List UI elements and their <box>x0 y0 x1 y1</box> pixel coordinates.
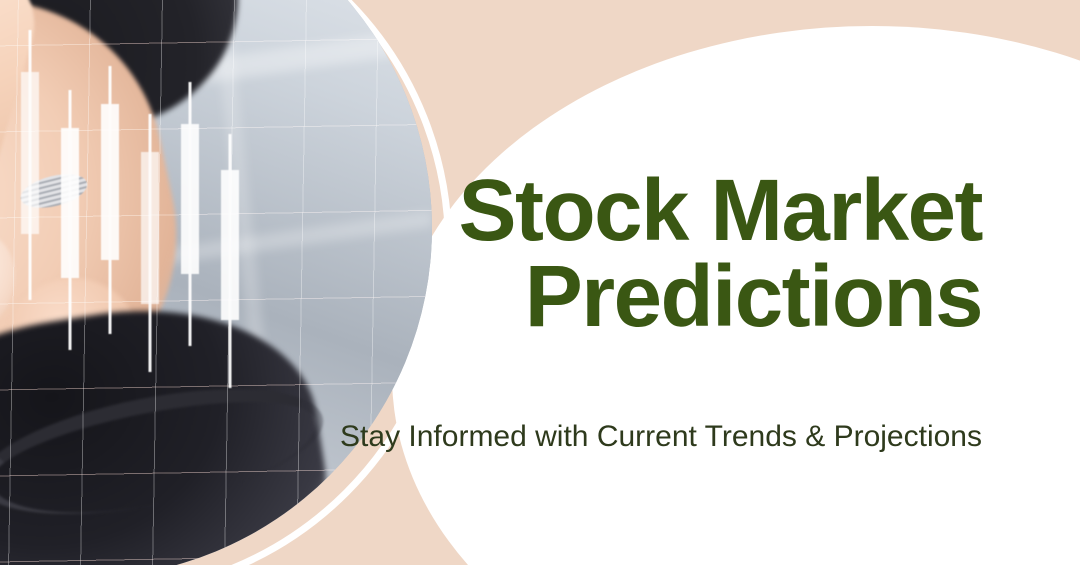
page-subtitle: Stay Informed with Current Trends & Proj… <box>320 416 982 459</box>
headline-line-1: Stock Market <box>240 168 982 254</box>
page-title: Stock Market Predictions <box>240 168 982 340</box>
stock-market-predictions-banner: Stock Market Predictions Stay Informed w… <box>0 0 1080 565</box>
headline-line-2: Predictions <box>240 254 982 340</box>
